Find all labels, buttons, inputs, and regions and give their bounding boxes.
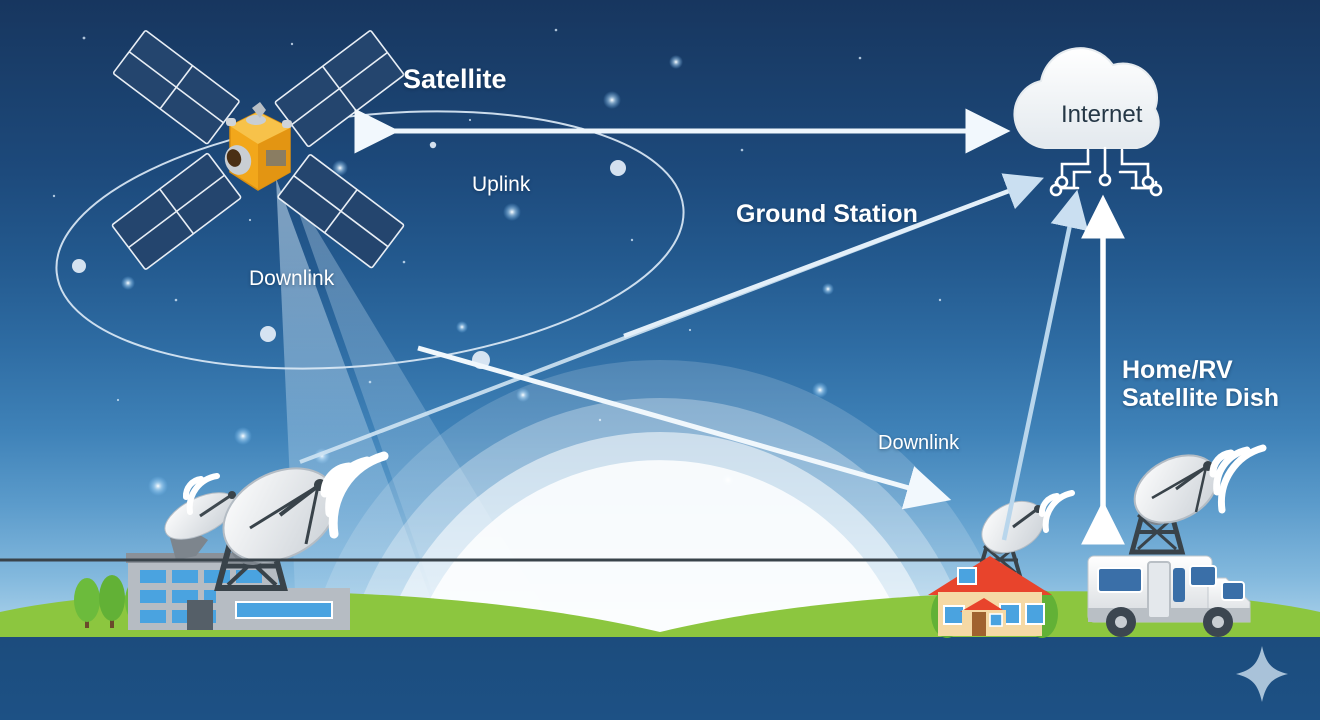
label-internet: Internet [1061,102,1142,129]
rv-door [1148,562,1170,618]
rv-dish-icon [1123,442,1229,552]
label-uplink: Uplink [472,173,530,197]
wifi-signal-rv-icon [1213,448,1263,510]
label-home-rv-dish: Home/RV Satellite Dish [1122,356,1279,412]
satellite-icon[interactable] [112,30,404,270]
label-downlink-left: Downlink [249,267,334,291]
wifi-signal-house-icon [1042,493,1072,530]
satellite-internet-diagram: Satellite Internet Uplink Ground Station… [0,0,1320,720]
label-satellite: Satellite [403,64,507,94]
arrow-dish-cloud[interactable] [1004,196,1076,540]
label-downlink-right: Downlink [878,432,959,454]
rv-icon[interactable] [1088,442,1263,637]
circuit-nodes [1051,175,1161,195]
label-ground-station: Ground Station [736,200,918,228]
satellite-body [221,102,292,190]
